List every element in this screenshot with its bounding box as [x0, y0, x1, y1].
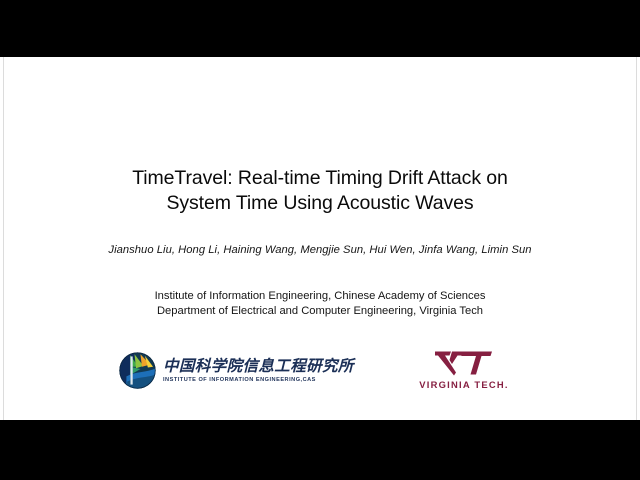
presentation-slide: TimeTravel: Real-time Timing Drift Attac…: [0, 57, 640, 420]
affiliation-block: Institute of Information Engineering, Ch…: [0, 289, 640, 318]
logo-row: 中国科学院信息工程研究所 INSTITUTE OF INFORMATION EN…: [0, 345, 640, 403]
affiliation-line-1: Institute of Information Engineering, Ch…: [0, 289, 640, 304]
institute-of-information-engineering-cas-logo: 中国科学院信息工程研究所 INSTITUTE OF INFORMATION EN…: [119, 345, 354, 395]
iie-wordmark: 中国科学院信息工程研究所 INSTITUTE OF INFORMATION EN…: [163, 357, 354, 384]
affiliation-line-2: Department of Electrical and Computer En…: [0, 304, 640, 319]
slide-title: TimeTravel: Real-time Timing Drift Attac…: [0, 166, 640, 216]
author-list: Jianshuo Liu, Hong Li, Haining Wang, Men…: [0, 244, 640, 256]
video-frame: TimeTravel: Real-time Timing Drift Attac…: [0, 0, 640, 480]
iie-chinese-name: 中国科学院信息工程研究所: [163, 357, 354, 375]
iie-circular-emblem-icon: [119, 352, 156, 389]
vt-monogram-icon: [433, 350, 495, 376]
iie-english-name: INSTITUTE OF INFORMATION ENGINEERING,CAS: [163, 376, 354, 384]
vt-wordmark: VIRGINIA TECH.: [419, 379, 509, 390]
virginia-tech-logo: VIRGINIA TECH.: [412, 345, 516, 395]
letterbox-bar-bottom: [0, 420, 640, 480]
letterbox-bar-top: [0, 0, 640, 57]
